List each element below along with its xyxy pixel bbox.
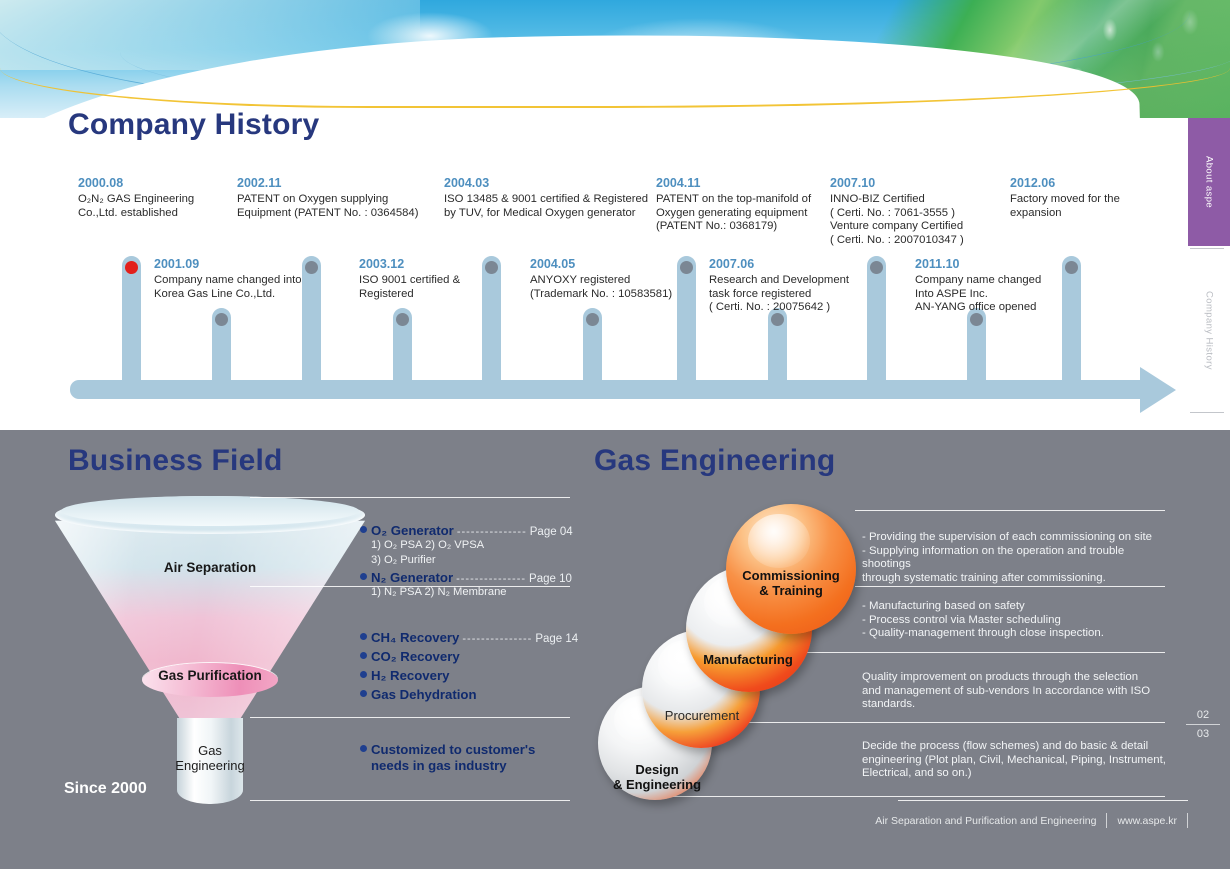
list-item[interactable]: CH₄ Recovery --------------- Page 14: [360, 630, 578, 645]
timeline-date-2012-06: 2012.06: [1010, 176, 1055, 190]
bullet-icon: [360, 671, 367, 678]
timeline-stem-top-5: [867, 256, 886, 390]
list-item[interactable]: CO₂ Recovery: [360, 649, 578, 664]
timeline-date-2007-06: 2007.06: [709, 257, 754, 271]
timeline-dot-top-2: [305, 261, 318, 274]
page-number-right: 03: [1186, 725, 1220, 743]
footer-divider: [898, 800, 1188, 801]
bf-sub-o2-2: 3) O₂ Purifier: [360, 553, 573, 568]
bf-head-h2-recovery: H₂ Recovery: [371, 668, 449, 683]
timeline-dot-bot-2: [396, 313, 409, 326]
timeline-dot-start: [125, 261, 138, 274]
bf-group-generators: O₂ Generator --------------- Page 04 1) …: [360, 523, 573, 600]
bf-divider-1: [250, 497, 570, 498]
bf-sub-o2-1: 1) O₂ PSA 2) O₂ VPSA: [360, 538, 573, 553]
timeline-stem-top-4: [677, 256, 696, 390]
list-item[interactable]: Gas Dehydration: [360, 687, 578, 702]
footer-website[interactable]: www.aspe.kr: [1117, 815, 1177, 827]
ge-divider-3: [795, 652, 1165, 653]
list-item[interactable]: O₂ Generator --------------- Page 04: [360, 523, 573, 538]
gas-engineering-sphere-stack: Commissioning & Training Manufacturing P…: [590, 490, 880, 820]
funnel-top-rim: [55, 496, 365, 534]
bullet-icon: [360, 573, 367, 580]
timeline-dot-bot-1: [215, 313, 228, 326]
funnel-label-gas-purification: Gas Purification: [115, 668, 305, 683]
bf-group-customized: Customized to customer's needs in gas in…: [360, 742, 535, 774]
header-banner-image: [0, 0, 1230, 118]
ge-divider-1: [855, 510, 1165, 511]
timeline-dot-top-5: [870, 261, 883, 274]
bf-head-n2-generator: N₂ Generator: [371, 570, 453, 585]
bf-head-gas-dehydration: Gas Dehydration: [371, 687, 477, 702]
bf-dash: ---------------: [456, 573, 526, 585]
footer: Air Separation and Purification and Engi…: [875, 813, 1188, 828]
company-history-title: Company History: [68, 108, 319, 142]
footer-separator-2: [1187, 813, 1188, 828]
funnel-top-rim-inner: [61, 496, 359, 526]
timeline-dot-top-4: [680, 261, 693, 274]
timeline-stem-top-6: [1062, 256, 1081, 390]
history-timeline: 2000.08 O₂N₂ GAS Engineering Co.,Ltd. es…: [0, 168, 1230, 408]
timeline-stem-top-3: [482, 256, 501, 390]
timeline-desc-2004-05: ANYOXY registered (Trademark No. : 10583…: [530, 274, 672, 301]
funnel-label-gas-engineering: Gas Engineering: [160, 743, 260, 773]
timeline-date-2004-03: 2004.03: [444, 176, 489, 190]
timeline-date-2000-08: 2000.08: [78, 176, 123, 190]
timeline-date-2003-12: 2003.12: [359, 257, 404, 271]
timeline-desc-2011-10: Company name changed Into ASPE Inc. AN-Y…: [915, 274, 1041, 315]
bf-page-o2-generator: Page 04: [530, 526, 573, 538]
timeline-date-2004-05: 2004.05: [530, 257, 575, 271]
bf-dash: ---------------: [462, 633, 532, 645]
timeline-desc-2002-11: PATENT on Oxygen supplying Equipment (PA…: [237, 193, 418, 220]
bf-head-customized: Customized to customer's needs in gas in…: [371, 742, 535, 774]
timeline-desc-2004-11: PATENT on the top-manifold of Oxygen gen…: [656, 193, 811, 234]
side-tab-divider-1: [1190, 248, 1224, 249]
bf-head-co2-recovery: CO₂ Recovery: [371, 649, 460, 664]
bullet-icon: [360, 652, 367, 659]
business-field-funnel: Air Separation Gas Purification Gas Engi…: [55, 500, 365, 805]
sphere-label-commissioning: Commissioning & Training: [726, 568, 856, 598]
bf-page-n2-generator: Page 10: [529, 573, 572, 585]
timeline-date-2001-09: 2001.09: [154, 257, 199, 271]
bf-page-ch4-recovery: Page 14: [535, 633, 578, 645]
since-label: Since 2000: [64, 780, 147, 798]
sphere-label-manufacturing: Manufacturing: [678, 652, 818, 667]
timeline-date-2007-10: 2007.10: [830, 176, 875, 190]
page-number-left: 02: [1186, 706, 1220, 724]
bullet-icon: [360, 690, 367, 697]
timeline-desc-2003-12: ISO 9001 certified & Registered: [359, 274, 460, 301]
timeline-stem-top-1: [122, 256, 141, 390]
timeline-desc-2007-10: INNO-BIZ Certified ( Certi. No. : 7061-3…: [830, 193, 964, 247]
bullet-icon: [360, 526, 367, 533]
ge-body-procurement: Quality improvement on products through …: [862, 671, 1177, 712]
timeline-stem-top-2: [302, 256, 321, 390]
page-numbers: 02 03: [1186, 706, 1220, 743]
side-tab-about-aspe[interactable]: About aspe: [1188, 118, 1230, 246]
timeline-dot-bot-5: [970, 313, 983, 326]
timeline-dot-top-6: [1065, 261, 1078, 274]
bf-dash: ---------------: [457, 526, 527, 538]
list-item[interactable]: Customized to customer's needs in gas in…: [360, 742, 535, 774]
list-item[interactable]: H₂ Recovery: [360, 668, 578, 683]
timeline-desc-2007-06: Research and Development task force regi…: [709, 274, 849, 315]
bf-head-ch4-recovery: CH₄ Recovery: [371, 630, 459, 645]
timeline-desc-2001-09: Company name changed into Korea Gas Line…: [154, 274, 302, 301]
ge-body-manufacturing: - Manufacturing based on safety - Proces…: [862, 600, 1174, 641]
timeline-date-2011-10: 2011.10: [915, 257, 960, 271]
bf-group-recovery: CH₄ Recovery --------------- Page 14 CO₂…: [360, 630, 578, 702]
timeline-date-2002-11: 2002.11: [237, 176, 282, 190]
ge-divider-2: [855, 586, 1165, 587]
timeline-arrow-head: [1140, 367, 1176, 413]
timeline-date-2004-11: 2004.11: [656, 176, 701, 190]
ge-divider-5: [661, 796, 1165, 797]
timeline-dot-bot-4: [771, 313, 784, 326]
sphere-label-design-engineering: Design & Engineering: [596, 762, 718, 792]
bf-divider-4: [250, 800, 570, 801]
sphere-commissioning-highlight: [748, 514, 810, 568]
funnel-label-air-separation: Air Separation: [110, 560, 310, 575]
timeline-base-bar: [70, 380, 1155, 399]
timeline-desc-2004-03: ISO 13485 & 9001 certified & Registered …: [444, 193, 648, 220]
bf-sub-n2-1: 1) N₂ PSA 2) N₂ Membrane: [360, 585, 573, 600]
bf-divider-3: [250, 717, 570, 718]
ge-divider-4: [727, 722, 1165, 723]
bullet-icon: [360, 745, 367, 752]
bullet-icon: [360, 633, 367, 640]
gas-engineering-title: Gas Engineering: [594, 444, 835, 478]
ge-body-design-engineering: Decide the process (flow schemes) and do…: [862, 740, 1180, 781]
footer-separator: [1106, 813, 1107, 828]
bf-head-o2-generator: O₂ Generator: [371, 523, 454, 538]
ge-body-commissioning: - Providing the supervision of each comm…: [862, 531, 1174, 585]
list-item[interactable]: N₂ Generator --------------- Page 10: [360, 570, 573, 585]
timeline-dot-top-3: [485, 261, 498, 274]
timeline-desc-2000-08: O₂N₂ GAS Engineering Co.,Ltd. establishe…: [78, 193, 194, 220]
sphere-label-procurement: Procurement: [632, 708, 772, 723]
business-field-title: Business Field: [68, 444, 283, 478]
side-tab-divider-2: [1190, 412, 1224, 413]
timeline-desc-2012-06: Factory moved for the expansion: [1010, 193, 1120, 220]
side-tab-company-history[interactable]: Company History: [1188, 250, 1230, 410]
timeline-dot-bot-3: [586, 313, 599, 326]
brochure-page: Company History 2000.08 O₂N₂ GAS Enginee…: [0, 0, 1230, 869]
footer-tagline: Air Separation and Purification and Engi…: [875, 815, 1096, 827]
